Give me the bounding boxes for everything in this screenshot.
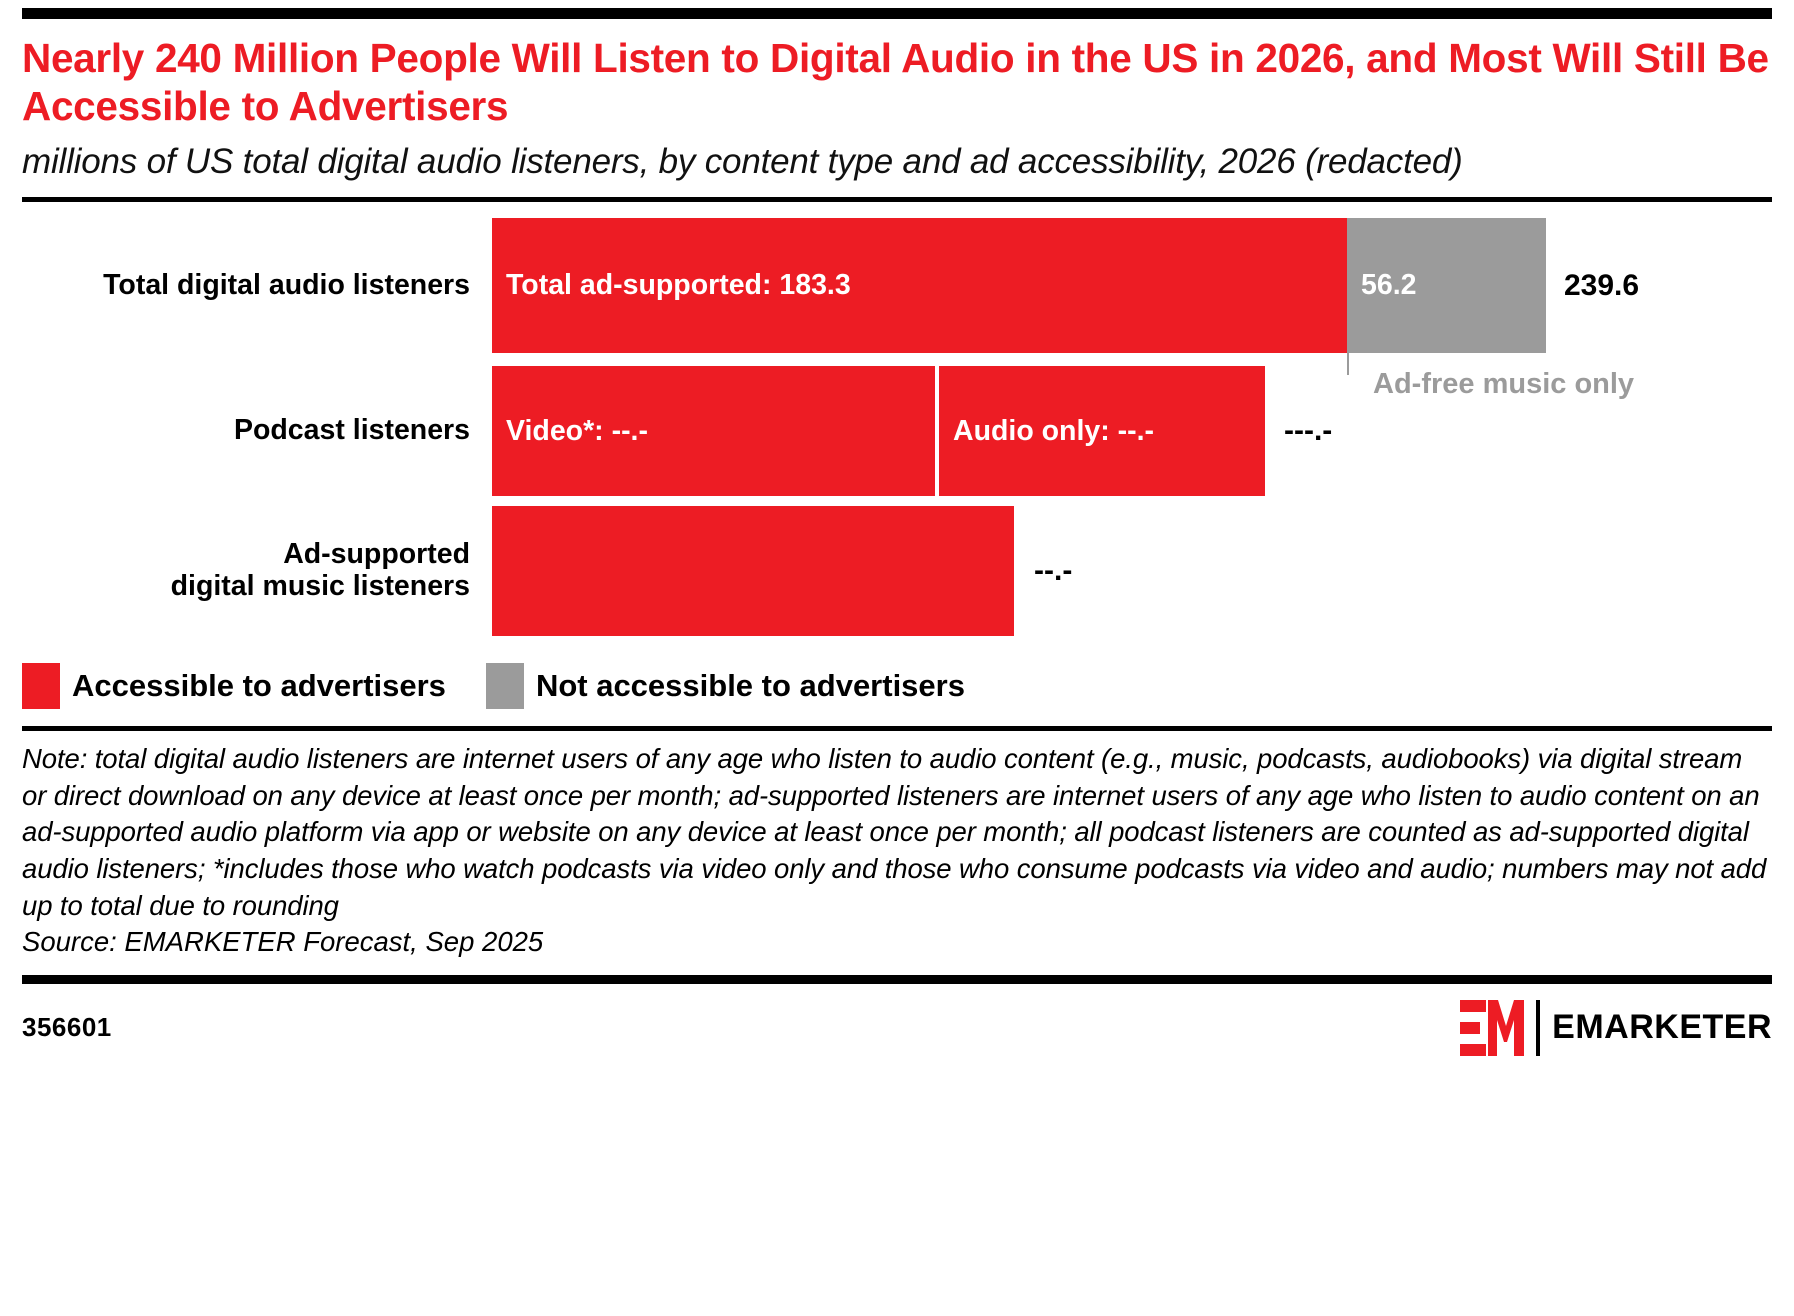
bar-segment-divider (935, 366, 939, 496)
legend-label-accessible: Accessible to advertisers (72, 668, 446, 704)
legend-swatch-accessible-icon (22, 663, 60, 709)
legend-swatch-not-accessible-icon (486, 663, 524, 709)
chart-plot-area: Total digital audio listeners Total ad-s… (22, 218, 1772, 648)
bar-group-podcast: Video*: --.- Audio only: --.- ---.- (492, 366, 1265, 496)
bar-segment-label-not-accessible: 56.2 (1347, 269, 1416, 302)
note-divider (22, 726, 1772, 731)
bar-total-label-podcast: ---.- (1284, 414, 1332, 448)
chart-page: Nearly 240 Million People Will Listen to… (0, 8, 1794, 1316)
chart-id: 356601 (22, 1012, 112, 1043)
bar-segment-ad-supported-music[interactable] (492, 506, 1014, 636)
chart-row-total-digital-audio-listeners: Total digital audio listeners Total ad-s… (22, 218, 1772, 353)
chart-source: Source: EMARKETER Forecast, Sep 2025 (22, 924, 1772, 961)
bar-group-total: Total ad-supported: 183.3 56.2 239.6 (492, 218, 1546, 353)
chart-subtitle: millions of US total digital audio liste… (22, 141, 1772, 184)
chart-note: Note: total digital audio listeners are … (22, 741, 1772, 924)
bar-segment-not-accessible[interactable]: 56.2 (1347, 218, 1546, 353)
row-label-ad-supported-digital-music-listeners: Ad-supported digital music listeners (22, 539, 470, 603)
bar-total-label-total: 239.6 (1564, 269, 1639, 303)
header-divider (22, 197, 1772, 202)
chart-legend: Accessible to advertisers Not accessible… (22, 662, 1772, 710)
bar-segment-label-podcast-audio-only: Audio only: --.- (939, 415, 1154, 448)
legend-item-accessible[interactable]: Accessible to advertisers (22, 663, 446, 709)
chart-row-podcast-listeners: Podcast listeners Video*: --.- Audio onl… (22, 366, 1772, 496)
brand-lockup: EMARKETER (1460, 998, 1772, 1058)
row-label-podcast-listeners: Podcast listeners (22, 415, 470, 447)
chart-title: Nearly 240 Million People Will Listen to… (22, 35, 1772, 131)
bar-group-ad-supported-music: --.- (492, 506, 1014, 636)
legend-item-not-accessible[interactable]: Not accessible to advertisers (486, 663, 965, 709)
chart-footer: 356601 EMARKETER (22, 998, 1772, 1058)
row-label-total-digital-audio-listeners: Total digital audio listeners (22, 270, 470, 302)
bar-segment-label-ad-supported: Total ad-supported: 183.3 (492, 269, 851, 302)
bar-segment-ad-supported[interactable]: Total ad-supported: 183.3 (492, 218, 1347, 353)
brand-rule (1536, 1000, 1540, 1056)
bar-segment-label-podcast-video: Video*: --.- (492, 415, 648, 448)
bar-total-label-ad-supported-music: --.- (1034, 554, 1072, 588)
emarketer-logo-icon (1460, 998, 1526, 1058)
legend-label-not-accessible: Not accessible to advertisers (536, 668, 965, 704)
brand-name: EMARKETER (1552, 1008, 1772, 1047)
bar-segment-podcast-audio-only[interactable]: Audio only: --.- (939, 366, 1265, 496)
top-divider (22, 8, 1772, 19)
footer-divider (22, 975, 1772, 984)
chart-row-ad-supported-digital-music-listeners: Ad-supported digital music listeners --.… (22, 506, 1772, 636)
bar-segment-podcast-video[interactable]: Video*: --.- (492, 366, 935, 496)
